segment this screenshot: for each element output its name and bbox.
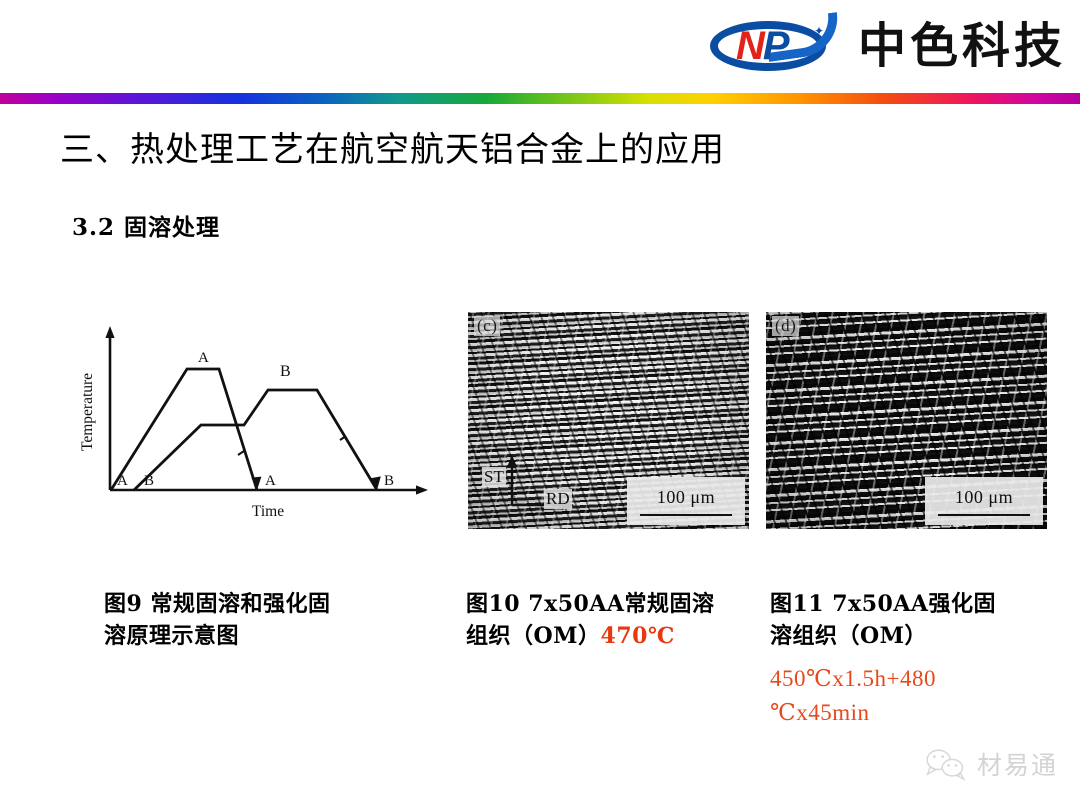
- micrograph-c-scale-text: 100 μm: [657, 487, 715, 508]
- annotation-figure-11: 450℃x1.5h+480 ℃x45min: [770, 662, 1060, 730]
- annotation-figure-11-line-1: 450℃x1.5h+480: [770, 662, 1060, 696]
- logo-star-icon: ✦: [814, 25, 824, 37]
- annotation-figure-11-line-2: ℃x45min: [770, 696, 1060, 730]
- micrograph-d-scalebar: 100 μm: [925, 477, 1043, 525]
- chart-curve-a-end-arrow: [251, 477, 261, 490]
- caption-figure-9-line-1: 图9 常规固溶和强化固: [104, 588, 434, 620]
- np-oval-logo-icon: NP ✦: [708, 15, 844, 77]
- caption-figure-9: 图9 常规固溶和强化固 溶原理示意图: [104, 588, 434, 652]
- chart-label-a-start: A: [117, 473, 128, 489]
- chart-label-b-start: B: [144, 473, 154, 489]
- chart-tick-a: [238, 451, 244, 455]
- micrograph-c-direction-marker: ST RD: [482, 453, 594, 511]
- header-band: NP ✦ 中色科技: [0, 0, 1080, 92]
- chart-svg: Temperature Time A B A B A B: [72, 312, 432, 537]
- micrograph-image-c: (c) ST RD 100 μm: [468, 312, 749, 529]
- caption-figure-10-line-2: 组织（OM）: [466, 623, 601, 649]
- chart-x-axis-arrow: [416, 485, 428, 494]
- section-subtitle: 3.2 固溶处理: [72, 208, 220, 242]
- caption-figure-10: 图10 7x50AA常规固溶 组织（OM）470℃: [466, 588, 756, 652]
- micrograph-d-scale-text: 100 μm: [955, 487, 1013, 508]
- chart-curve-a: [111, 369, 257, 490]
- caption-figure-11: 图11 7x50AA强化固 溶组织（OM）: [770, 588, 1060, 652]
- watermark: 材易通: [923, 746, 1058, 782]
- caption-figure-11-line-1: 图11 7x50AA强化固: [770, 588, 1060, 620]
- caption-figure-10-line-1: 图10 7x50AA常规固溶: [466, 588, 756, 620]
- page-title: 三、热处理工艺在航空航天铝合金上的应用: [60, 122, 725, 171]
- caption-figure-9-line-2: 溶原理示意图: [104, 620, 434, 652]
- micrograph-c-label-st: ST: [482, 467, 506, 487]
- chart-label-a-top: A: [198, 350, 209, 366]
- chart-label-b-top: B: [280, 363, 291, 380]
- logo-letter-p: P: [763, 24, 788, 68]
- temperature-time-schematic-chart: Temperature Time A B A B A B: [72, 312, 432, 537]
- micrograph-d-panel-label: (d): [772, 316, 799, 336]
- chart-x-axis-label: Time: [252, 503, 284, 520]
- chart-label-b-end: B: [384, 473, 394, 489]
- micrograph-image-d: (d) 100 μm: [766, 312, 1047, 529]
- caption-figure-10-line-2-wrap: 组织（OM）470℃: [466, 620, 756, 652]
- micrograph-c-panel-label: (c): [474, 316, 500, 336]
- rainbow-divider-rule: [0, 93, 1080, 104]
- chart-label-a-end: A: [265, 473, 276, 489]
- logo-letter-n: N: [736, 24, 763, 68]
- brand-logo-group: NP ✦ 中色科技: [708, 12, 1066, 80]
- micrograph-c-scale-line: [640, 514, 732, 516]
- micrograph-c-scalebar: 100 μm: [627, 477, 745, 525]
- micrograph-c-label-rd: RD: [544, 489, 572, 509]
- watermark-text: 材易通: [977, 746, 1058, 782]
- chart-y-axis-arrow: [105, 326, 114, 338]
- chart-y-axis-label: Temperature: [79, 373, 96, 451]
- brand-name: 中色科技: [858, 20, 1066, 72]
- wechat-icon: [923, 747, 967, 781]
- caption-figure-10-temperature: 470℃: [601, 623, 675, 649]
- caption-figure-11-line-2: 溶组织（OM）: [770, 620, 1060, 652]
- micrograph-d-scale-line: [938, 514, 1030, 516]
- logo-np-letters: NP: [736, 24, 788, 68]
